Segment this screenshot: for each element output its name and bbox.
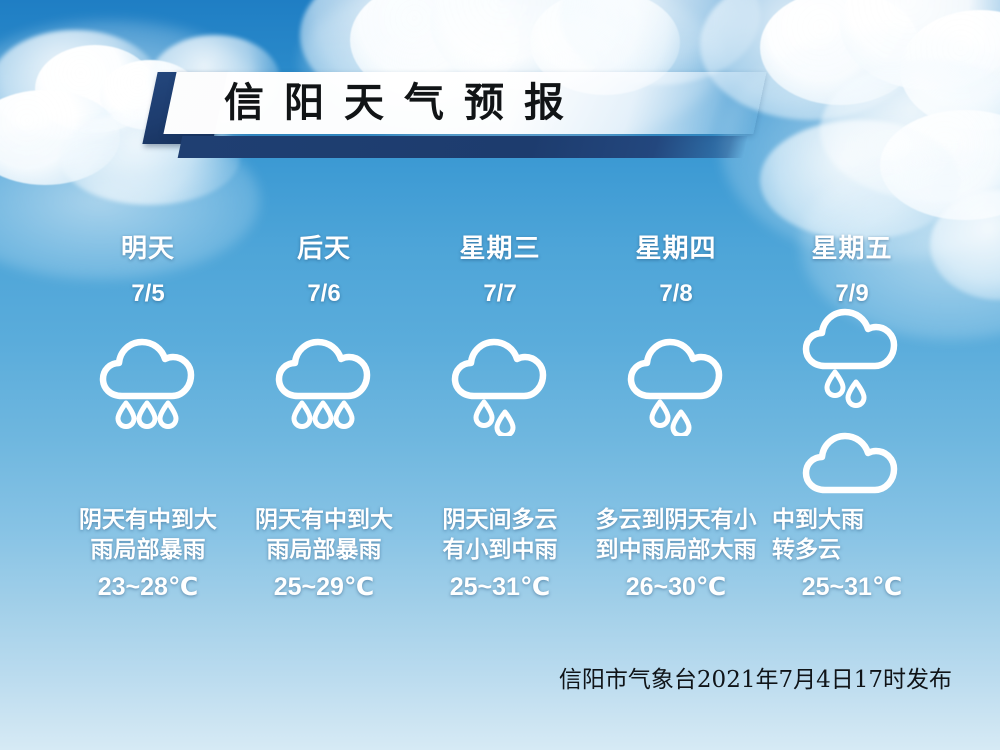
day-temperature: 25~29℃ bbox=[236, 572, 412, 602]
day-date: 7/5 bbox=[60, 280, 236, 308]
day-temperature: 23~28℃ bbox=[60, 572, 236, 602]
condition-line-1: 中到大雨 bbox=[772, 504, 940, 534]
forecast-row: 明天 7/5 阴天有中到大 雨局部暴雨 23~28℃ 后天 bbox=[60, 228, 940, 628]
day-condition: 多云到阴天有小 到中雨局部大雨 bbox=[569, 504, 783, 564]
forecast-day-column[interactable]: 星期三 7/7 阴天间多云 有小到中雨 25~31℃ bbox=[412, 228, 588, 628]
forecast-day-column[interactable]: 星期五 7/9 中到大雨 转多云 25~31℃ bbox=[764, 228, 940, 628]
issued-by-text: 信阳市气象台2021年7月4日17时发布 bbox=[0, 660, 952, 694]
cloud-rain-heavy-icon bbox=[268, 324, 380, 436]
banner-dark-bar bbox=[178, 136, 748, 158]
condition-line-2: 到中雨局部大雨 bbox=[569, 534, 783, 564]
day-name: 明天 bbox=[60, 228, 236, 265]
weather-icon-wrap bbox=[60, 324, 236, 504]
day-temperature: 26~30℃ bbox=[588, 572, 764, 602]
weather-icon-wrap bbox=[236, 324, 412, 504]
day-name: 星期五 bbox=[764, 228, 940, 265]
forecast-day-column[interactable]: 星期四 7/8 多云到阴天有小 到中雨局部大雨 26~30℃ bbox=[588, 228, 764, 628]
forecast-day-column[interactable]: 明天 7/5 阴天有中到大 雨局部暴雨 23~28℃ bbox=[60, 228, 236, 628]
cloud-rain-light-icon bbox=[620, 324, 732, 436]
cloud-rain-heavy-icon bbox=[92, 324, 204, 436]
day-name: 后天 bbox=[236, 228, 412, 265]
day-date: 7/6 bbox=[236, 280, 412, 308]
day-temperature: 25~31℃ bbox=[764, 572, 940, 602]
weather-icon-wrap bbox=[764, 294, 940, 474]
day-date: 7/8 bbox=[588, 280, 764, 308]
cloud-rain-to-cloudy-icon bbox=[793, 294, 911, 504]
day-temperature: 25~31℃ bbox=[412, 572, 588, 602]
cloud-rain-light-icon bbox=[444, 324, 556, 436]
condition-line-2: 转多云 bbox=[772, 534, 940, 564]
forecast-day-column[interactable]: 后天 7/6 阴天有中到大 雨局部暴雨 25~29℃ bbox=[236, 228, 412, 628]
page-title: 信阳天气预报 bbox=[224, 77, 744, 129]
weather-icon-wrap bbox=[412, 324, 588, 504]
condition-line-1: 多云到阴天有小 bbox=[569, 504, 783, 534]
weather-icon-wrap bbox=[588, 324, 764, 504]
header-banner: 信阳天气预报 bbox=[0, 0, 1000, 200]
day-name: 星期四 bbox=[588, 228, 764, 265]
day-condition: 中到大雨 转多云 bbox=[764, 504, 940, 564]
day-date: 7/7 bbox=[412, 280, 588, 308]
weather-forecast-poster: 信阳天气预报 明天 7/5 阴天有中到大 雨局部暴雨 bbox=[0, 0, 1000, 750]
day-name: 星期三 bbox=[412, 228, 588, 265]
